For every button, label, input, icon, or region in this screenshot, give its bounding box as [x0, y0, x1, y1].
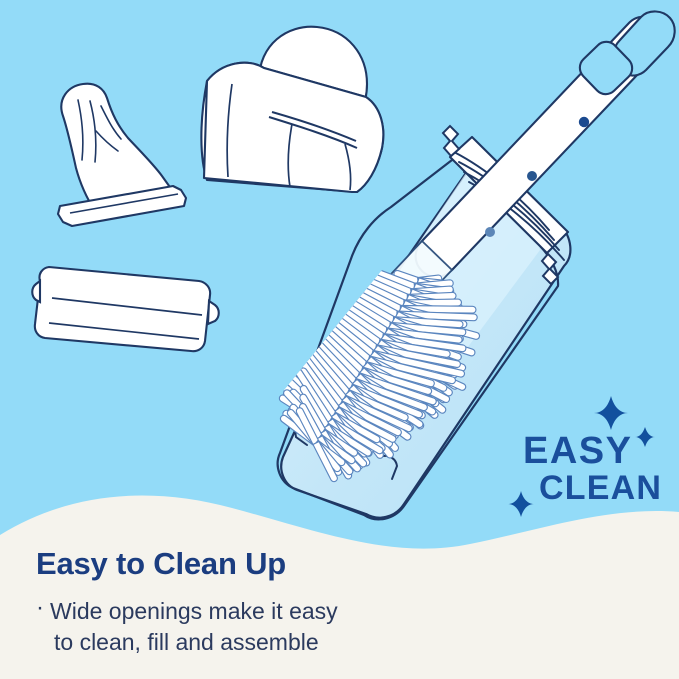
product-feature-card: EASY CLEAN Easy to Clean Up · Wide openi… [0, 0, 679, 679]
brush-handle-dot-1 [579, 117, 589, 127]
badge-line-easy: EASY [523, 432, 673, 471]
bullet-text: Wide openings make it easy to clean, fil… [50, 596, 338, 659]
page-title: Easy to Clean Up [36, 545, 506, 584]
badge-line-clean: CLEAN [539, 471, 673, 507]
bullet-marker-icon: · [36, 596, 44, 620]
easy-clean-badge: EASY CLEAN [523, 432, 673, 506]
caption-block: Easy to Clean Up · Wide openings make it… [36, 545, 506, 659]
bullet-list-item: · Wide openings make it easy to clean, f… [36, 596, 506, 659]
bullet-text-line-1: Wide openings make it easy [50, 596, 338, 628]
bullet-text-line-2: to clean, fill and assemble [54, 627, 338, 659]
bottle-collar-ring [32, 267, 219, 351]
brush-handle-dot-2 [527, 171, 537, 181]
brush-handle-dot-3 [485, 227, 495, 237]
